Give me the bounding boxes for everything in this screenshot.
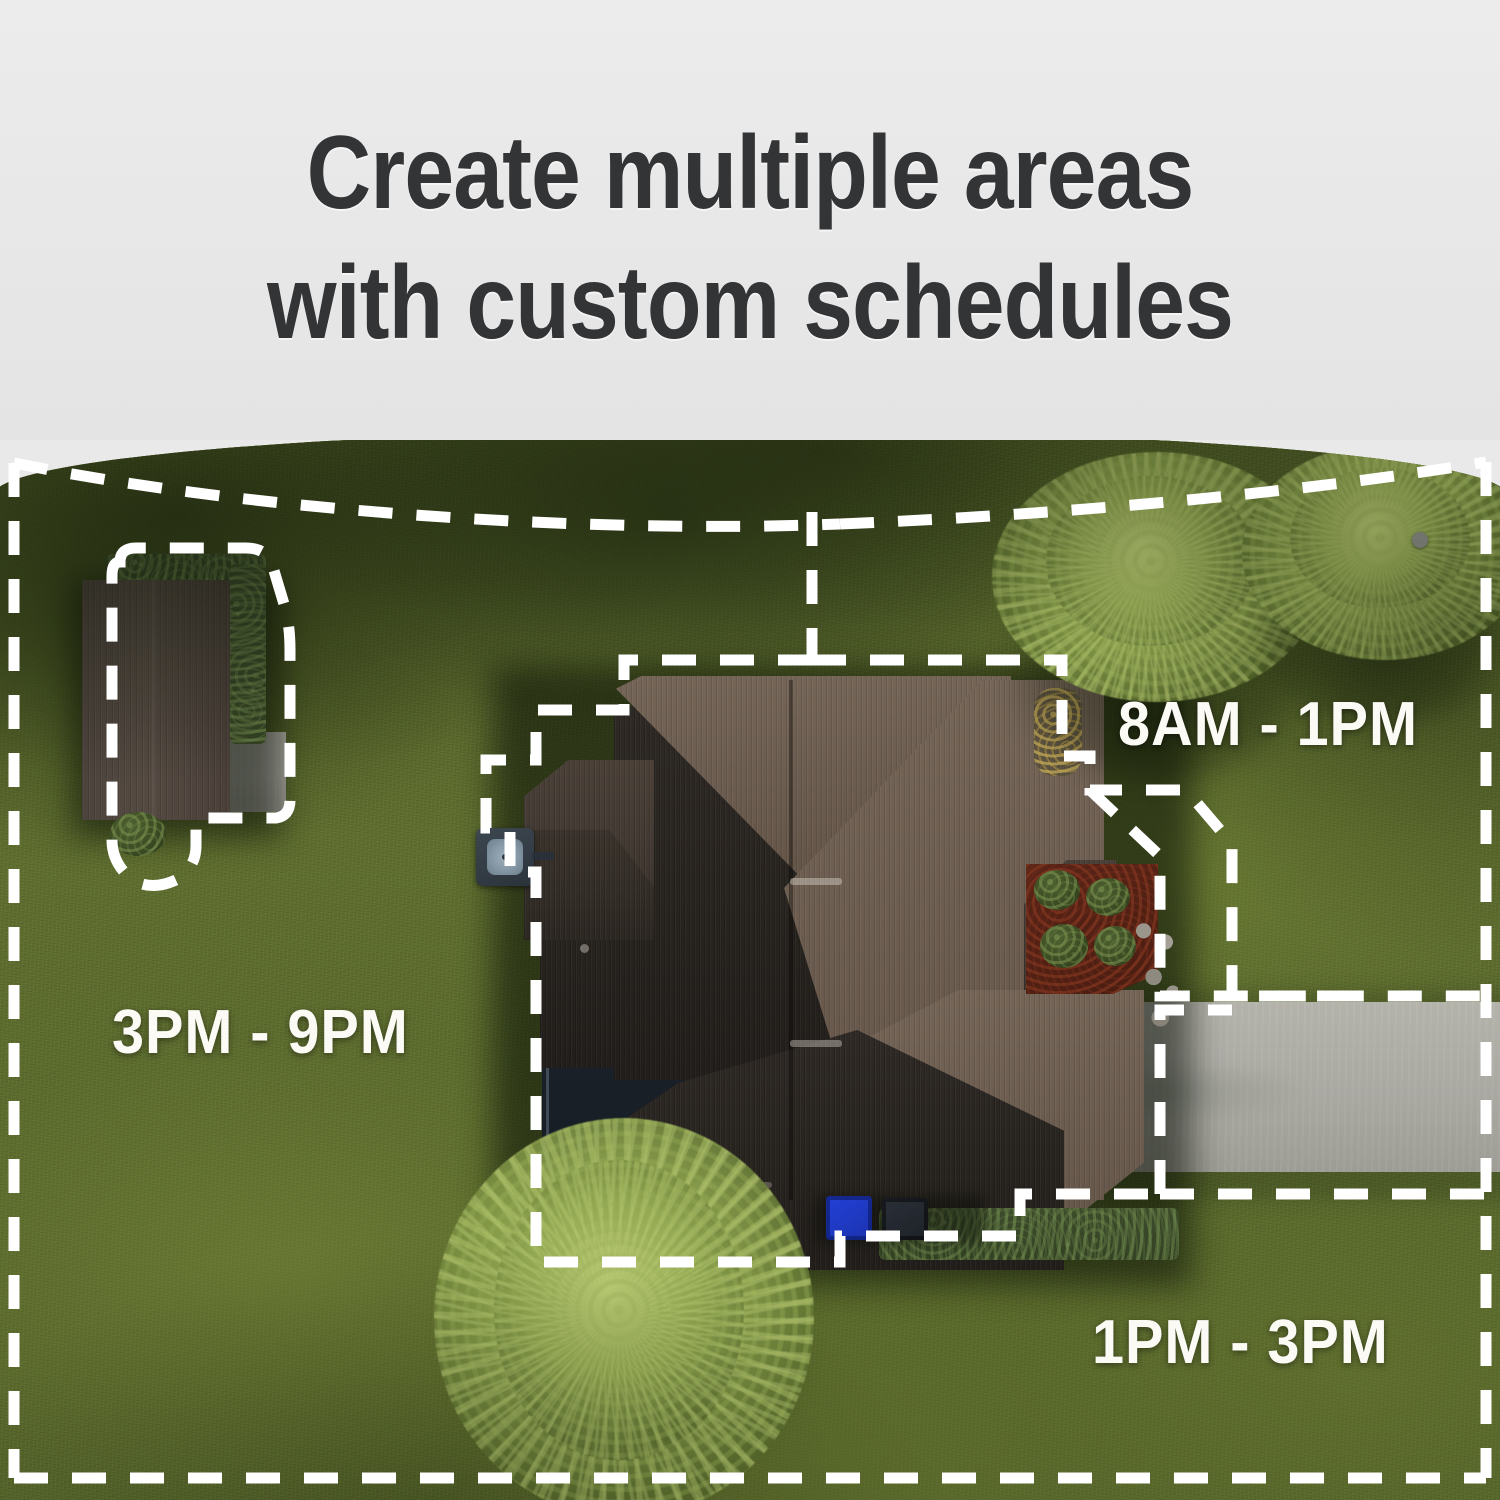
screenshot-root: 8AM - 1PM 3PM - 9PM 1PM - 3PM Create mul… bbox=[0, 0, 1500, 1500]
shed-roof bbox=[82, 580, 230, 820]
trash-bin-dark bbox=[882, 1198, 928, 1240]
flower-bed-shrub-d bbox=[1094, 926, 1136, 966]
page-title: Create multiple areas with custom schedu… bbox=[105, 108, 1395, 368]
zone-label-morning: 8AM - 1PM bbox=[1118, 694, 1418, 756]
shed-bush bbox=[110, 812, 166, 856]
ac-unit-conduit bbox=[532, 852, 554, 860]
tree-top-right-a-inner bbox=[1046, 476, 1256, 646]
house-roof-pipe bbox=[580, 944, 589, 953]
ac-unit bbox=[476, 828, 534, 886]
tree-bottom-left-inner bbox=[494, 1160, 744, 1460]
flower-bed-rock-border bbox=[1136, 900, 1178, 1040]
house-roof-vent-a bbox=[790, 878, 842, 885]
flower-bed-shrub-b bbox=[1086, 878, 1130, 916]
zone-label-midday: 1PM - 3PM bbox=[1092, 1312, 1389, 1374]
yard-marker-dot bbox=[1412, 532, 1428, 548]
flower-bed-shrub-c bbox=[1040, 924, 1088, 968]
shed-roof-ridge bbox=[152, 580, 155, 820]
flower-bed-shrub-a bbox=[1034, 870, 1080, 910]
shed-hedge-side bbox=[230, 564, 266, 744]
house-roof-ridge-main bbox=[789, 680, 793, 1200]
tree-top-right-b-inner bbox=[1290, 468, 1470, 608]
zone-label-evening: 3PM - 9PM bbox=[112, 1002, 409, 1064]
trash-bin-blue bbox=[826, 1196, 872, 1240]
house-roof-vent-b bbox=[790, 1040, 842, 1047]
header-banner: Create multiple areas with custom schedu… bbox=[0, 0, 1500, 440]
ac-fan-icon bbox=[487, 839, 523, 875]
